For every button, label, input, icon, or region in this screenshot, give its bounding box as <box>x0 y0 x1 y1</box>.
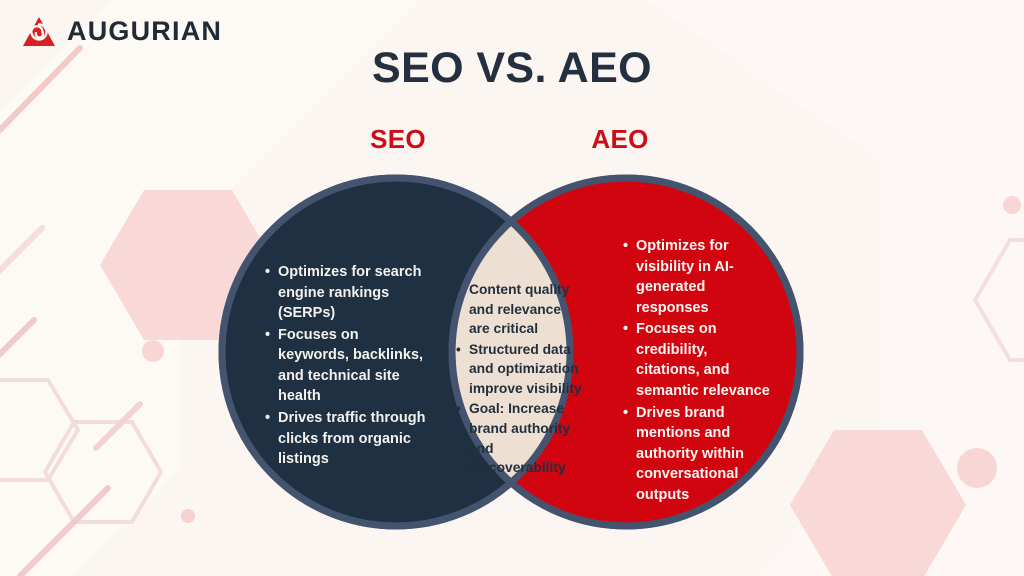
list-item: Focuses on credibility, citations, and s… <box>636 319 774 401</box>
list-item: Goal: Increase brand authority and disco… <box>469 399 585 477</box>
page-title: SEO VS. AEO <box>0 44 1024 93</box>
augurian-triangle-spiral-icon <box>22 16 56 47</box>
list-item: Drives traffic through clicks from organ… <box>278 408 428 470</box>
venn-list-seo: Optimizes for search engine rankings (SE… <box>264 262 428 471</box>
venn-caption-aeo: AEO <box>550 124 690 155</box>
list-item: Content quality and relevance are critic… <box>469 280 585 339</box>
list-item: Optimizes for visibility in AI-generated… <box>636 236 774 318</box>
brand-logo: AUGURIAN <box>22 16 222 47</box>
list-item: Focuses on keywords, backlinks, and tech… <box>278 325 428 407</box>
list-item: Structured data and optimization improve… <box>469 340 585 399</box>
list-item: Drives brand mentions and authority with… <box>636 403 774 506</box>
venn-caption-seo: SEO <box>328 124 468 155</box>
venn-list-aeo: Optimizes for visibility in AI-generated… <box>622 236 774 507</box>
venn-list-overlap: Content quality and relevance are critic… <box>455 280 585 479</box>
list-item: Optimizes for search engine rankings (SE… <box>278 262 428 324</box>
brand-wordmark: AUGURIAN <box>67 18 222 45</box>
